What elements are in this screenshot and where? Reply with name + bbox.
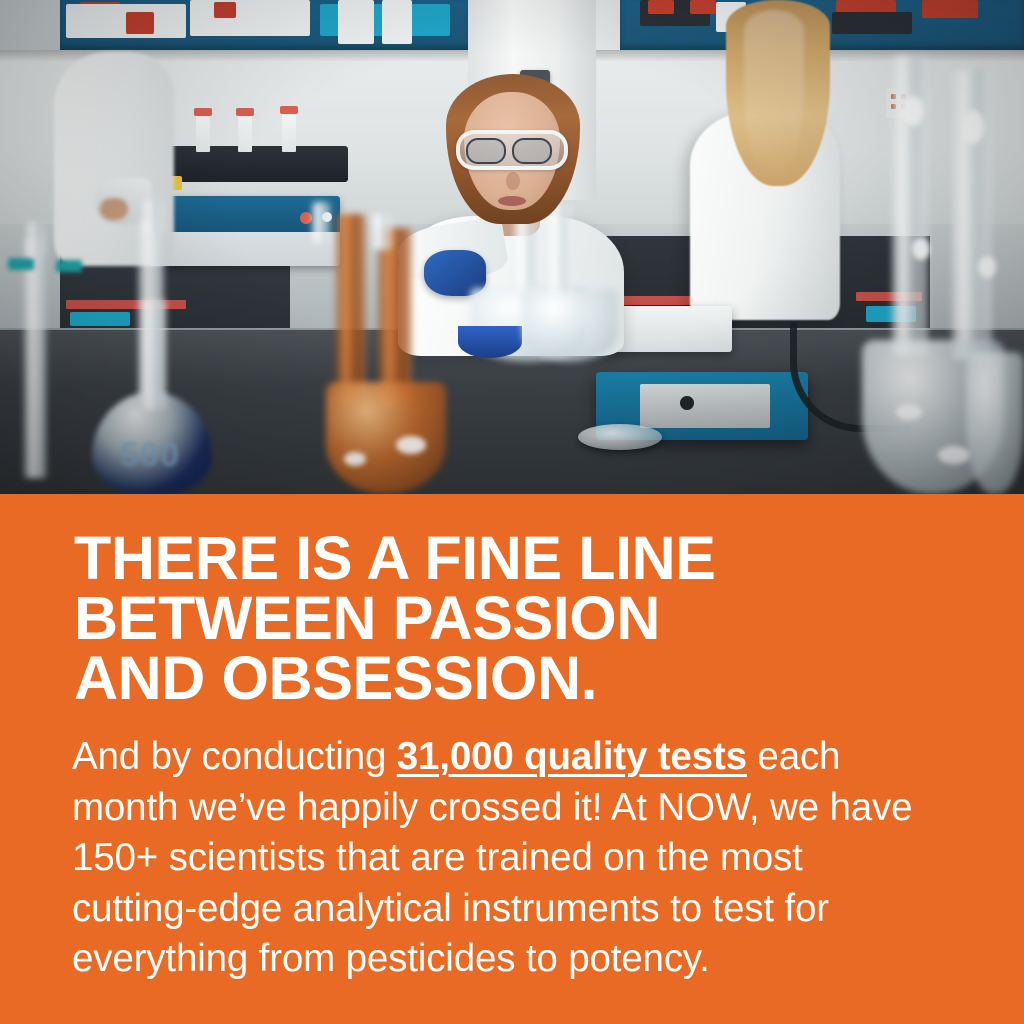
body-paragraph: And by conducting 31,000 quality tests e…	[72, 732, 938, 985]
glass-highlight	[902, 96, 924, 126]
pipette-tip	[26, 222, 46, 256]
headline-line-2: BETWEEN PASSION	[74, 588, 954, 648]
glass-highlight	[344, 452, 366, 466]
test-tube	[238, 112, 252, 152]
glass-highlight	[912, 238, 930, 260]
headline-line-1: THERE IS A FINE LINE	[74, 528, 954, 588]
glass-highlight	[962, 110, 984, 144]
glass-highlight	[938, 446, 970, 464]
amber-stopper	[312, 202, 330, 242]
volumetric-flask-body	[966, 352, 1024, 494]
pipette-cap	[8, 258, 34, 270]
shelf-bottle	[126, 12, 154, 34]
body-text-before-emphasis: And by conducting	[72, 735, 397, 778]
eyeglass-lens-left	[466, 138, 506, 164]
shelf-bottle	[690, 0, 716, 14]
petri-dish	[578, 424, 662, 450]
tube-cap	[280, 106, 298, 114]
glass-highlight	[978, 256, 996, 278]
eyeglass-lens-right	[512, 138, 552, 164]
shelf-bottle	[70, 312, 130, 326]
shelf-divider	[66, 300, 186, 309]
pipette-tip	[142, 200, 164, 234]
volumetric-flask-body	[522, 290, 618, 362]
shelf-box	[190, 0, 310, 36]
instrument-dial	[680, 396, 694, 410]
amber-flask-body	[326, 382, 446, 494]
glass-highlight	[396, 436, 426, 454]
hair-highlight	[744, 10, 804, 180]
shelf-box	[832, 12, 912, 34]
scientist-mouth	[498, 196, 526, 206]
test-tube	[196, 112, 210, 152]
pipette-cap	[56, 260, 82, 272]
headline-line-3: AND OBSESSION.	[74, 648, 954, 708]
instrument-display	[640, 384, 770, 428]
blue-solution	[458, 326, 522, 358]
shelf-tube	[382, 0, 412, 44]
orange-text-panel: THERE IS A FINE LINE BETWEEN PASSION AND…	[0, 494, 1024, 1024]
social-media-post-card: 500 THERE IS A FINE LINE BETWEEN PASSION…	[0, 0, 1024, 1024]
instrument-indicator	[300, 212, 312, 224]
flask-volume-label: 500	[104, 436, 196, 475]
tube-cap	[236, 108, 254, 116]
laboratory-photo: 500	[0, 0, 1024, 494]
amber-column-neck	[378, 228, 412, 408]
scientist-nose	[506, 172, 520, 190]
test-tube	[282, 110, 296, 152]
amber-stopper	[372, 214, 392, 250]
page-headline: THERE IS A FINE LINE BETWEEN PASSION AND…	[74, 528, 954, 708]
shelf-bottle	[214, 2, 236, 18]
tube-cap	[194, 108, 212, 116]
shelf-bottle	[922, 0, 978, 18]
shelf-tube	[338, 0, 374, 44]
amber-column-neck	[336, 214, 366, 404]
background-scientist-left-hand	[100, 198, 128, 220]
quality-tests-emphasis: 31,000 quality tests	[397, 735, 747, 778]
shelf-bottle	[648, 0, 674, 14]
flask-neck	[142, 300, 166, 410]
graduated-pipette	[24, 238, 46, 478]
glass-highlight	[896, 404, 922, 420]
